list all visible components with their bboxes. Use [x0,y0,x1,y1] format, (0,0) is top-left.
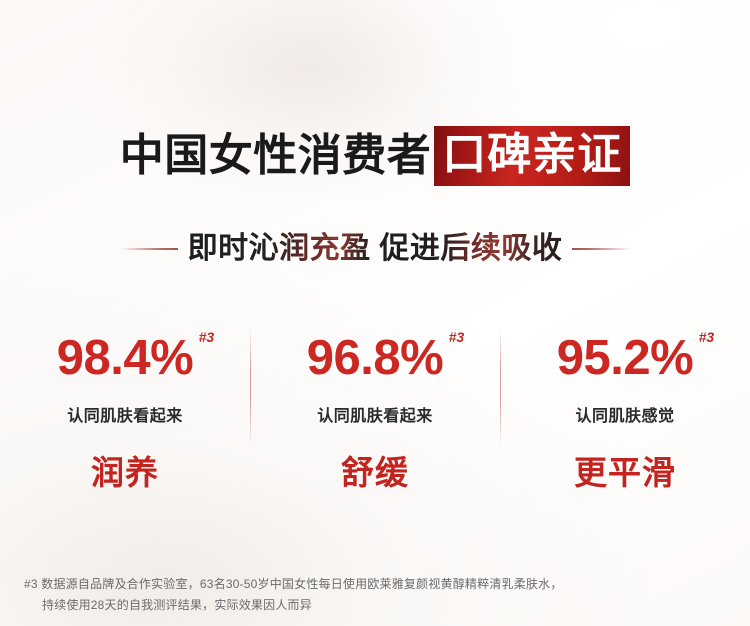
stat-column-2: 96.8% #3 认同肌肤看起来 舒缓 [250,326,500,489]
footnote-line-1: #3 数据源自品牌及合作实验室，63名30-50岁中国女性每日使用欧莱雅复颜视黄… [24,574,724,595]
stat-percent-wrap-1: 98.4% #3 [57,334,193,383]
footnote-line-2: 持续使用28天的自我测评结果，实际效果因人而异 [24,595,724,616]
rule-right-decoration [572,248,630,250]
stat-percent-2: 96.8% [307,331,443,385]
headline-red-badge: 口碑亲证 [434,126,630,186]
stat-percent-wrap-3: 95.2% #3 [557,334,693,383]
stat-footnote-marker-2: #3 [449,330,465,344]
stat-percent-wrap-2: 96.8% #3 [307,334,443,383]
stat-keyword-3: 更平滑 [500,456,750,489]
subtitle-row: 即时沁润充盈 促进后续吸收 [0,232,750,267]
headline-plain-text: 中国女性消费者 [120,134,432,178]
stat-footnote-marker-3: #3 [699,330,715,344]
stat-percent-1: 98.4% [57,331,193,385]
stat-percent-3: 95.2% [557,331,693,385]
stat-keyword-1: 润养 [0,456,250,489]
statistics-row: 98.4% #3 认同肌肤看起来 润养 96.8% #3 认同肌肤看起来 舒缓 … [0,326,750,489]
headline: 中国女性消费者 口碑亲证 [0,126,750,186]
stat-description-1: 认同肌肤看起来 [0,409,250,425]
rule-left-decoration [120,248,178,250]
promotional-poster: 中国女性消费者 口碑亲证 即时沁润充盈 促进后续吸收 98.4% #3 认同肌肤… [0,0,750,626]
stat-keyword-2: 舒缓 [250,456,500,489]
stat-column-1: 98.4% #3 认同肌肤看起来 润养 [0,326,250,489]
subtitle-text: 即时沁润充盈 促进后续吸收 [188,232,563,267]
stat-footnote-marker-1: #3 [199,330,215,344]
stat-description-3: 认同肌肤感觉 [500,409,750,425]
stat-column-3: 95.2% #3 认同肌肤感觉 更平滑 [500,326,750,489]
footnote: #3 数据源自品牌及合作实验室，63名30-50岁中国女性每日使用欧莱雅复颜视黄… [24,574,724,616]
stat-description-2: 认同肌肤看起来 [250,409,500,425]
